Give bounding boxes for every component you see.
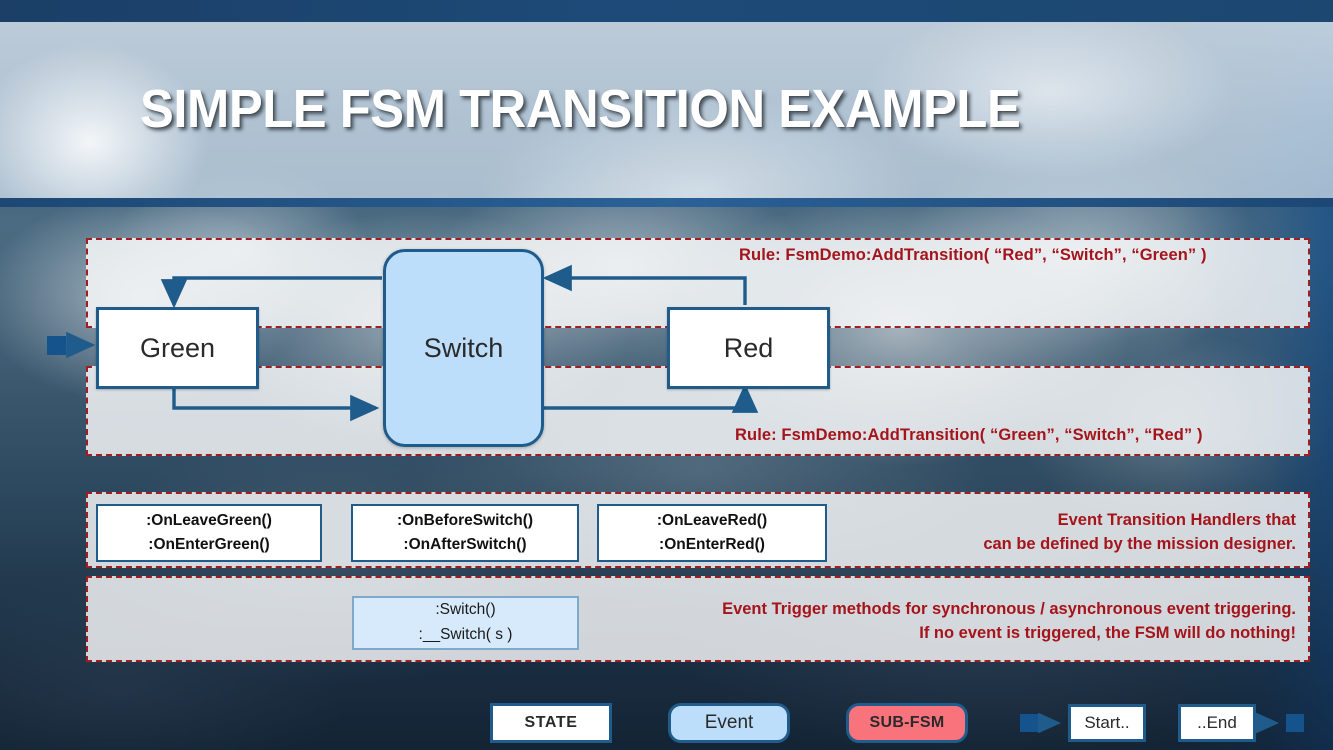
state-label-green: Green: [140, 333, 215, 364]
triggers-caption-line-2: If no event is triggered, the FSM will d…: [722, 622, 1296, 646]
slide-canvas: SIMPLE FSM TRANSITION EXAMPLE Rule: FsmD…: [0, 0, 1333, 750]
legend-subfsm-label: SUB-FSM: [870, 714, 945, 732]
end-square-icon: [1286, 714, 1304, 732]
handler-line-1: :OnLeaveGreen(): [146, 509, 272, 533]
arrow-red-to-switch: [546, 278, 745, 305]
arrow-right-icon: [1256, 713, 1286, 733]
arrow-right-icon: [1038, 713, 1068, 733]
trigger-line-2: :__Switch( s ): [419, 623, 513, 648]
legend-end-label: ..End: [1197, 713, 1237, 733]
legend-subfsm-swatch: SUB-FSM: [846, 703, 968, 743]
handler-line-2: :OnAfterSwitch(): [403, 533, 526, 557]
legend-item-start: Start..: [1020, 704, 1146, 742]
state-box-red[interactable]: Red: [667, 307, 830, 389]
handler-line-1: :OnLeaveRed(): [657, 509, 767, 533]
start-node-square: [47, 336, 66, 355]
legend-item-state: STATE: [490, 703, 612, 743]
state-box-green[interactable]: Green: [96, 307, 259, 389]
handler-box-green: :OnLeaveGreen() :OnEnterGreen(): [96, 504, 322, 562]
legend: STATE Event SUB-FSM Start..: [0, 698, 1333, 744]
trigger-box-switch: :Switch() :__Switch( s ): [352, 596, 579, 650]
arrow-switch-to-red: [540, 387, 745, 408]
legend-item-end: ..End: [1178, 704, 1304, 742]
legend-end-swatch: ..End: [1178, 704, 1256, 742]
handler-line-2: :OnEnterRed(): [659, 533, 765, 557]
handler-line-1: :OnBeforeSwitch(): [397, 509, 533, 533]
legend-item-subfsm: SUB-FSM: [846, 703, 968, 743]
arrow-switch-to-green: [174, 278, 382, 305]
handler-line-2: :OnEnterGreen(): [148, 533, 269, 557]
legend-start-swatch: Start..: [1068, 704, 1146, 742]
legend-event-swatch: Event: [668, 703, 790, 743]
handlers-caption-line-2: can be defined by the mission designer.: [983, 533, 1296, 557]
legend-start-label: Start..: [1084, 713, 1129, 733]
handler-box-red: :OnLeaveRed() :OnEnterRed(): [597, 504, 827, 562]
handlers-caption-line-1: Event Transition Handlers that: [983, 509, 1296, 533]
legend-state-swatch: STATE: [490, 703, 612, 743]
legend-item-event: Event: [668, 703, 790, 743]
event-box-switch[interactable]: Switch: [383, 249, 544, 447]
handler-box-switch: :OnBeforeSwitch() :OnAfterSwitch(): [351, 504, 579, 562]
start-square-icon: [1020, 714, 1038, 732]
state-label-red: Red: [724, 333, 774, 364]
handlers-caption: Event Transition Handlers that can be de…: [983, 509, 1296, 557]
triggers-caption-line-1: Event Trigger methods for synchronous / …: [722, 598, 1296, 622]
triggers-caption: Event Trigger methods for synchronous / …: [722, 598, 1296, 646]
event-label-switch: Switch: [424, 333, 504, 364]
legend-event-label: Event: [705, 712, 754, 734]
trigger-line-1: :Switch(): [435, 598, 495, 623]
legend-state-label: STATE: [524, 714, 577, 732]
